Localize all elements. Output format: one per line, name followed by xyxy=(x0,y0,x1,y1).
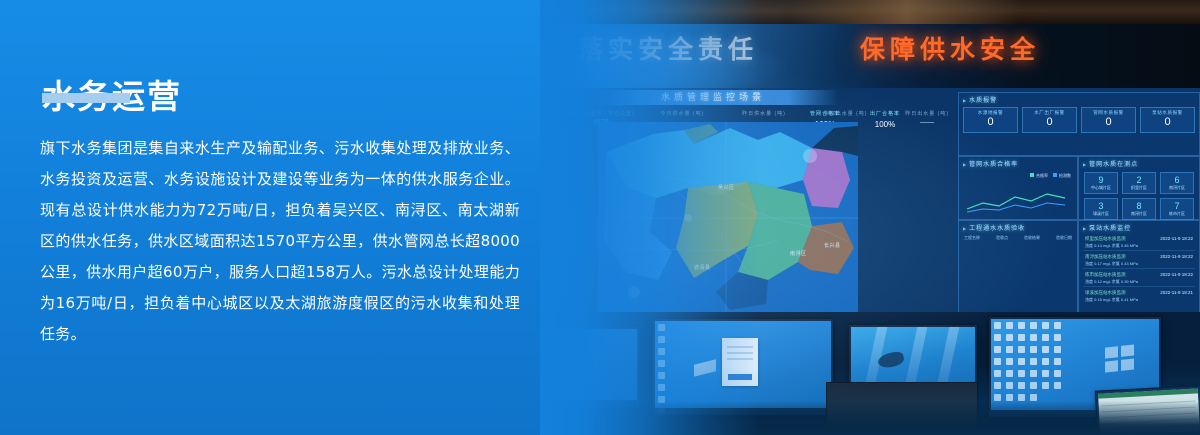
column-header: 验收结果 xyxy=(1024,235,1040,241)
led-slogan-left: 落实安全责任 xyxy=(578,30,758,66)
monitor-point-value: 7 xyxy=(1161,201,1193,211)
desktop-icon[interactable] xyxy=(1018,394,1025,401)
pump-log-time: 2022-11-9 18:22 xyxy=(1160,254,1193,259)
alarm-card[interactable]: 泵站水质报警 0 xyxy=(1140,107,1195,133)
chart-legend: 合格率 检测数 xyxy=(1030,173,1071,179)
desktop-icon[interactable] xyxy=(1042,358,1049,365)
desktop-icon[interactable] xyxy=(1018,370,1025,377)
pump-log-row[interactable]: 织里加压站水质监测 2022-11-9 18:22 浊度 0.14 mgL 余氯… xyxy=(1083,235,1195,251)
desktop-icon[interactable] xyxy=(994,334,1001,341)
panel-project-acceptance: 工程通水水质验收 工程名称 验收点 验收结果 验收日期 xyxy=(958,220,1078,320)
monitor-point-value: 2 xyxy=(1123,175,1155,185)
desktop-icon[interactable] xyxy=(1042,322,1049,329)
desktop-icon[interactable] xyxy=(1030,370,1037,377)
desktop-icon[interactable] xyxy=(658,384,665,391)
pump-log-name: 织里加压站水质监测 xyxy=(1085,236,1126,242)
pump-log-row[interactable]: 练市加压站水质监测 2022-11-9 18:22 浊度 0.12 mgL 余氯… xyxy=(1083,271,1195,287)
kpi-label: 昨日出水量 (吨) xyxy=(890,110,964,117)
document-dialog[interactable] xyxy=(722,338,758,386)
monitor-screen xyxy=(655,321,831,413)
monitor-point-label: 埭溪片区 xyxy=(1085,211,1117,217)
desktop-icon[interactable] xyxy=(994,394,1001,401)
panel-header: 管网水质在测点 xyxy=(1083,159,1138,168)
panel-water-quality-alarm: 水质报警 水源地报警 0 水厂出厂报警 0 管网水质报警 xyxy=(958,92,1200,156)
desktop-icon[interactable] xyxy=(1018,382,1025,389)
monitor-point-cell[interactable]: 3 埭溪片区 xyxy=(1084,198,1118,220)
alarm-card-value: 0 xyxy=(964,116,1017,129)
desktop-icon[interactable] xyxy=(994,322,1001,329)
alarm-card-title: 泵站水质报警 xyxy=(1141,110,1194,116)
desktop-icon[interactable] xyxy=(1018,334,1025,341)
text-content-block: 水务运营 旗下水务集团是集自来水生产及输配业务、污水收集处理及排放业务、水务投资… xyxy=(0,0,600,435)
desktop-icon[interactable] xyxy=(658,324,665,331)
desktop-icon[interactable] xyxy=(1030,382,1037,389)
legend-item: 检测数 xyxy=(1053,173,1071,179)
water-operations-banner: 落实安全责任 保障供水安全 水质管理监控场景 供水区域面积 (平方公里) 157… xyxy=(0,0,1200,435)
pump-log-row[interactable]: 埭溪加压站水质监测 2022-11-9 18:21 浊度 0.15 mgL 余氯… xyxy=(1083,289,1195,304)
alarm-card[interactable]: 水源地报警 0 xyxy=(963,107,1018,133)
alarm-card-title: 水源地报警 xyxy=(964,110,1017,116)
pump-log-name: 南浔加压站水质监测 xyxy=(1085,254,1126,260)
desktop-icon[interactable] xyxy=(1054,334,1061,341)
monitor-point-cell[interactable]: 9 中心城片区 xyxy=(1084,172,1118,194)
monitor-point-grid: 9 中心城片区 2 织里片区 6 南浔片区 xyxy=(1084,172,1194,220)
desktop-icon[interactable] xyxy=(1006,370,1013,377)
desktop-icon[interactable] xyxy=(1054,370,1061,377)
monitor-point-label: 中心城片区 xyxy=(1085,185,1117,191)
title-accent-rule xyxy=(42,93,130,103)
pump-log-time: 2022-11-9 18:21 xyxy=(1160,290,1193,295)
pump-log-values: 浊度 0.12 mgL 余氯 0.39 MPa xyxy=(1085,279,1138,285)
pump-log-values: 浊度 0.17 mgL 余氯 0.43 MPa xyxy=(1085,261,1138,267)
kpi-item: 昨日出水量 (吨) —— xyxy=(890,110,964,126)
monitor-point-label: 南浔片区 xyxy=(1161,185,1193,191)
desktop-icon[interactable] xyxy=(658,348,665,355)
desktop-icon[interactable] xyxy=(994,358,1001,365)
monitor-point-label: 练市片区 xyxy=(1161,211,1193,217)
monitor-point-cell[interactable]: 2 织里片区 xyxy=(1122,172,1156,194)
desktop-icon[interactable] xyxy=(1006,382,1013,389)
desktop-icon[interactable] xyxy=(1018,322,1025,329)
desktop-icon[interactable] xyxy=(1042,346,1049,353)
desktop-icon[interactable] xyxy=(1006,346,1013,353)
district-map: 吴兴区 南浔区 德清县 长兴县 xyxy=(598,122,858,312)
desktop-icon-grid[interactable] xyxy=(994,322,1063,403)
kpi-value: —— xyxy=(890,119,964,126)
panel-monitor-points: 管网水质在测点 9 中心城片区 2 织里片区 6 xyxy=(1078,156,1200,220)
desktop-icon[interactable] xyxy=(1030,358,1037,365)
desktop-icon[interactable] xyxy=(1054,358,1061,365)
kpi-label: 昨日供水量 (吨) xyxy=(727,110,801,117)
monitor-point-value: 6 xyxy=(1161,175,1193,185)
desktop-icon[interactable] xyxy=(1030,322,1037,329)
spreadsheet-header-bar xyxy=(1098,388,1198,398)
pump-log-name: 练市加压站水质监测 xyxy=(1085,272,1126,278)
desktop-icon[interactable] xyxy=(1006,394,1013,401)
desktop-icon[interactable] xyxy=(1030,346,1037,353)
legend-label: 检测数 xyxy=(1059,173,1071,178)
desktop-icon[interactable] xyxy=(1042,382,1049,389)
desktop-icon[interactable] xyxy=(1018,346,1025,353)
desktop-icon[interactable] xyxy=(994,382,1001,389)
desktop-icon[interactable] xyxy=(1018,358,1025,365)
led-slogan-right: 保障供水安全 xyxy=(860,30,1040,66)
desktop-icon-column[interactable] xyxy=(658,324,667,413)
map-label-wuxing: 吴兴区 xyxy=(718,184,735,191)
monitor-point-cell[interactable]: 8 南浔片区 xyxy=(1122,198,1156,220)
foreground-shadow xyxy=(540,401,1200,435)
column-header: 验收日期 xyxy=(1056,235,1072,241)
desktop-icon[interactable] xyxy=(658,360,665,367)
pump-log-time: 2022-11-9 18:22 xyxy=(1160,272,1193,277)
alarm-card-value: 0 xyxy=(1141,116,1194,129)
district-map-svg xyxy=(598,122,858,312)
legend-swatch-icon xyxy=(1053,173,1057,177)
kpi-percent-label: 出厂合格率 xyxy=(870,110,900,117)
pump-log-values: 浊度 0.15 mgL 余氯 0.41 MPa xyxy=(1085,297,1138,303)
doc-line xyxy=(727,346,753,348)
monitoring-dashboard-screen: 水质管理监控场景 供水区域面积 (平方公里) 1570 今日供水量 (吨) ——… xyxy=(540,88,1200,320)
doc-action-button[interactable] xyxy=(728,374,752,380)
description-paragraph: 旗下水务集团是集自来水生产及输配业务、污水收集处理及排放业务、水务投资及运营、水… xyxy=(40,133,520,350)
alarm-card[interactable]: 管网水质报警 0 xyxy=(1081,107,1136,133)
pump-log-values: 浊度 0.14 mgL 余氯 0.45 MPa xyxy=(1085,243,1138,249)
dashboard-title: 水质管理监控场景 xyxy=(588,90,838,105)
panel-pass-rate: 管网水质合格率 合格率 检测数 xyxy=(958,156,1078,220)
desktop-icon[interactable] xyxy=(1030,394,1037,401)
desktop-icon[interactable] xyxy=(1006,358,1013,365)
kpi-percent-plant: 出厂合格率 100% xyxy=(870,110,900,129)
operator-desk-area xyxy=(540,312,1200,435)
monitor-point-value: 3 xyxy=(1085,201,1117,211)
monitor-point-cell[interactable]: 6 南浔片区 xyxy=(1160,172,1194,194)
desktop-icon[interactable] xyxy=(1054,382,1061,389)
panel-header: 水质报警 xyxy=(963,95,997,104)
ceiling-light-sheen xyxy=(791,0,1022,26)
panel-header: 工程通水水质验收 xyxy=(963,223,1025,232)
map-label-changxing: 长兴县 xyxy=(824,242,841,249)
monitor-point-value: 9 xyxy=(1085,175,1117,185)
map-label-deqing: 德清县 xyxy=(694,264,711,271)
column-header: 工程名称 xyxy=(964,235,980,241)
column-header: 验收点 xyxy=(996,235,1008,241)
desktop-icon[interactable] xyxy=(1006,322,1013,329)
pump-log-time: 2022-11-9 18:22 xyxy=(1160,236,1193,241)
desktop-icon[interactable] xyxy=(658,372,665,379)
monitor-point-cell[interactable]: 7 练市片区 xyxy=(1160,198,1194,220)
legend-swatch-icon xyxy=(1030,173,1034,177)
alarm-card-value: 0 xyxy=(1023,116,1076,129)
monitor-point-value: 8 xyxy=(1123,201,1155,211)
desktop-icon[interactable] xyxy=(1042,370,1049,377)
panel-header: 管网水质合格率 xyxy=(963,159,1018,168)
desktop-icon[interactable] xyxy=(1054,322,1061,329)
pump-log-name: 埭溪加压站水质监测 xyxy=(1085,290,1126,296)
desktop-icon[interactable] xyxy=(1030,334,1037,341)
windows-logo-icon xyxy=(1105,344,1135,373)
alarm-card-title: 水厂出厂报警 xyxy=(1023,110,1076,116)
pump-log-row[interactable]: 南浔加压站水质监测 2022-11-9 18:22 浊度 0.17 mgL 余氯… xyxy=(1083,253,1195,269)
kpi-label: 今日供水量 (吨) xyxy=(646,110,720,117)
alarm-card-value: 0 xyxy=(1082,116,1135,129)
desktop-icon[interactable] xyxy=(658,336,665,343)
map-label-nanxun: 南浔区 xyxy=(790,250,807,257)
acceptance-table-header: 工程名称 验收点 验收结果 验收日期 xyxy=(964,235,1072,241)
pass-rate-chart xyxy=(965,185,1071,215)
doc-line xyxy=(727,352,753,354)
alarm-card-title: 管网水质报警 xyxy=(1082,110,1135,116)
desktop-icon[interactable] xyxy=(1042,334,1049,341)
desktop-icon[interactable] xyxy=(994,370,1001,377)
desktop-icon[interactable] xyxy=(1054,346,1061,353)
legend-item: 合格率 xyxy=(1030,173,1048,179)
kpi-percent-value: 100% xyxy=(870,120,900,129)
control-room-photo: 落实安全责任 保障供水安全 水质管理监控场景 供水区域面积 (平方公里) 157… xyxy=(540,0,1200,435)
panel-pump-station-monitor: 泵站水质监控 织里加压站水质监测 2022-11-9 18:22 浊度 0.14… xyxy=(1078,220,1200,320)
monitor-point-label: 南浔片区 xyxy=(1123,211,1155,217)
panel-header: 泵站水质监控 xyxy=(1083,223,1131,232)
desktop-icon[interactable] xyxy=(994,346,1001,353)
alarm-card[interactable]: 水厂出厂报警 0 xyxy=(1022,107,1077,133)
dashboard-side-panels: 水质报警 水源地报警 0 水厂出厂报警 0 管网水质报警 xyxy=(958,92,1198,318)
doc-line xyxy=(727,358,753,360)
kpi-percent-label: 管网合格率 xyxy=(810,110,840,117)
alarm-card-row: 水源地报警 0 水厂出厂报警 0 管网水质报警 0 xyxy=(963,107,1195,133)
legend-label: 合格率 xyxy=(1036,173,1048,178)
desktop-icon[interactable] xyxy=(1006,334,1013,341)
monitor-point-label: 织里片区 xyxy=(1123,185,1155,191)
